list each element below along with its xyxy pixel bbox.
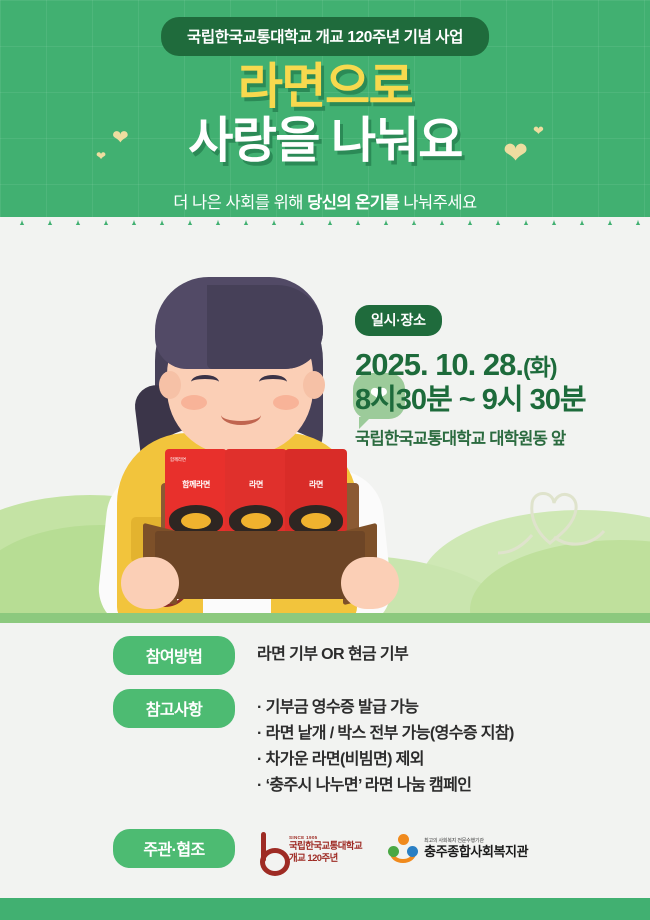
details-section: 참여방법 라면 기부 OR 현금 기부 참고사항 · 기부금 영수증 발급 가능…	[0, 636, 650, 882]
eye-right	[259, 375, 287, 389]
ramen-pack-label: 함께라면	[165, 479, 227, 490]
cheek-left	[181, 395, 207, 410]
detail-item: · ‘충주시 나누면’ 라면 나눔 캠페인	[257, 773, 650, 799]
detail-row-sponsor: 주관·협조 SINCE 1905 국립한국교통대학교 개교 120주년	[0, 829, 650, 868]
detail-value: 라면 기부 OR 현금 기부	[235, 636, 650, 668]
welfare-dot-blue	[407, 846, 418, 857]
section-divider	[0, 613, 650, 623]
hair-sweep	[207, 285, 323, 369]
ramen-pack-label: 라면	[285, 479, 347, 490]
footer-bar	[0, 898, 650, 920]
detail-item: · 라면 낱개 / 박스 전부 가능(영수증 지참)	[257, 721, 650, 747]
box-front-panel	[155, 531, 365, 599]
detail-row-notes: 참고사항 · 기부금 영수증 발급 가능 · 라면 낱개 / 박스 전부 가능(…	[0, 689, 650, 799]
welfare-dot-orange	[398, 834, 409, 845]
event-time: 8시30분 ~ 9시 30분	[355, 383, 640, 418]
eye-left	[191, 375, 219, 389]
datetime-place-pill: 일시·장소	[355, 305, 442, 336]
title-line-2: 사랑을 나눠요	[0, 117, 650, 165]
hand-right	[341, 557, 399, 609]
welfare-logo-text: 최고의 사회복지 전문수행기관 충주종합사회복지관	[424, 838, 528, 860]
sponsor-logos: SINCE 1905 국립한국교통대학교 개교 120주년 최고의 사회복지 전…	[235, 832, 528, 866]
event-info-block: 일시·장소 2025. 10. 28.(화) 8시30분 ~ 9시 30분 국립…	[355, 305, 640, 449]
ramen-pack: 라면	[285, 449, 347, 539]
detail-item: 라면 기부 OR 현금 기부	[257, 642, 650, 668]
volunteer-illustration: ❤ 함께라면 함께라면 라면 라면	[95, 255, 395, 617]
poster-subtitle: 더 나은 사회를 위해 당신의 온기를 나눠주세요	[0, 189, 650, 213]
detail-row-participation: 참여방법 라면 기부 OR 현금 기부	[0, 636, 650, 675]
event-place: 국립한국교통대학교 대학원동 앞	[355, 425, 640, 449]
university-logo-text: SINCE 1905 국립한국교통대학교 개교 120주년	[289, 835, 362, 863]
poster-header: ❤ ❤ ❤ ❤ 국립한국교통대학교 개교 120주년 기념 사업 라면으로 사랑…	[0, 0, 650, 232]
welfare-dot-green	[388, 846, 399, 857]
detail-item: · 기부금 영수증 발급 가능	[257, 695, 650, 721]
anniversary-badge: 국립한국교통대학교 개교 120주년 기념 사업	[161, 17, 489, 56]
ramen-pack: 라면	[225, 449, 287, 539]
university-emblem-icon	[257, 832, 283, 866]
outline-heart-icon	[498, 479, 606, 557]
hand-left	[121, 557, 179, 609]
ramen-pack: 함께라면 함께라면	[165, 449, 227, 539]
ramen-pack-group: 함께라면 함께라면 라면 라면	[165, 449, 361, 541]
logo-welfare-name: 충주종합사회복지관	[424, 844, 528, 860]
subtitle-post: 나눠주세요	[399, 194, 476, 212]
detail-value-list: · 기부금 영수증 발급 가능 · 라면 낱개 / 박스 전부 가능(영수증 지…	[235, 689, 650, 799]
cheek-right	[273, 395, 299, 410]
detail-label: 참고사항	[113, 689, 235, 728]
event-weekday: (화)	[523, 354, 556, 380]
poster-title: 라면으로 사랑을 나눠요	[0, 63, 650, 165]
ear	[159, 371, 181, 399]
ramen-brand-label: 함께라면	[170, 457, 186, 463]
welfare-people-icon	[388, 834, 418, 864]
subtitle-strong: 당신의 온기를	[307, 194, 399, 212]
logo-welfare-center: 최고의 사회복지 전문수행기관 충주종합사회복지관	[388, 834, 528, 864]
detail-item: · 차가운 라면(비빔면) 제외	[257, 747, 650, 773]
ramen-donation-box: 함께라면 함께라면 라면 라면	[147, 483, 373, 613]
event-date: 2025. 10. 28.(화)	[355, 347, 640, 383]
sponsor-label: 주관·협조	[113, 829, 235, 868]
event-date-value: 2025. 10. 28.	[355, 347, 523, 382]
poster: ❤ ❤ ❤ ❤ 국립한국교통대학교 개교 120주년 기념 사업 라면으로 사랑…	[0, 0, 650, 920]
logo-university-name: 국립한국교통대학교	[289, 840, 362, 851]
logo-university: SINCE 1905 국립한국교통대학교 개교 120주년	[257, 832, 362, 866]
subtitle-pre: 더 나은 사회를 위해	[173, 194, 307, 212]
detail-label: 참여방법	[113, 636, 235, 675]
ramen-pack-label: 라면	[225, 479, 287, 490]
smile	[221, 405, 261, 425]
title-line-1: 라면으로	[238, 60, 412, 114]
ear	[303, 371, 325, 399]
logo-university-sub: 개교 120주년	[289, 852, 362, 863]
